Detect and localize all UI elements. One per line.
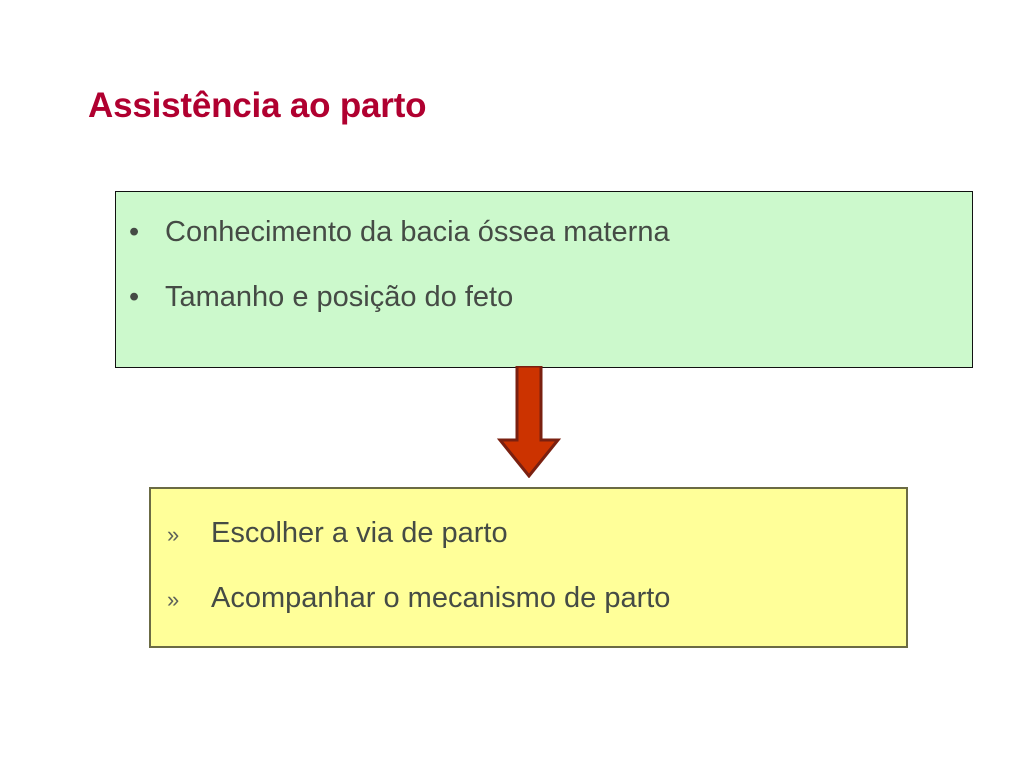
- list-item-label: Acompanhar o mecanismo de parto: [211, 584, 670, 613]
- yellow-content-box: » Escolher a via de parto » Acompanhar o…: [149, 487, 908, 648]
- list-item-label: Tamanho e posição do feto: [165, 283, 513, 312]
- list-item-label: Escolher a via de parto: [211, 519, 508, 548]
- bullet-dot-icon: •: [129, 218, 165, 247]
- list-item-label: Conhecimento da bacia óssea materna: [165, 218, 670, 247]
- bullet-guillemet-icon: »: [167, 589, 211, 611]
- list-item: • Conhecimento da bacia óssea materna: [116, 198, 972, 262]
- bullet-dot-icon: •: [129, 283, 165, 312]
- list-item: » Acompanhar o mecanismo de parto: [151, 560, 906, 625]
- down-arrow-icon: [496, 366, 562, 478]
- green-content-box: • Conhecimento da bacia óssea materna • …: [115, 191, 973, 368]
- slide-canvas: Assistência ao parto • Conhecimento da b…: [0, 0, 1024, 768]
- list-item: » Escolher a via de parto: [151, 507, 906, 560]
- list-item: • Tamanho e posição do feto: [116, 262, 972, 327]
- bullet-guillemet-icon: »: [167, 524, 211, 546]
- page-title: Assistência ao parto: [88, 86, 426, 126]
